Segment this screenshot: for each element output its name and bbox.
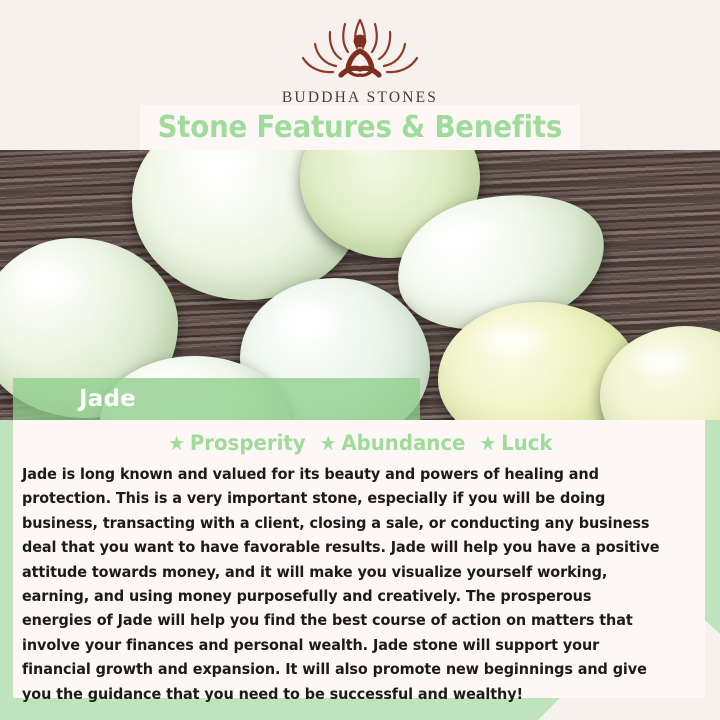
benefits-row: ★Prosperity★Abundance★Luck [34, 431, 684, 455]
stone-name: Jade [79, 386, 136, 412]
description-panel: ★Prosperity★Abundance★Luck Jade is long … [13, 420, 705, 698]
page-title-band: Stone Features & Benefits [140, 105, 580, 150]
page-title: Stone Features & Benefits [158, 110, 563, 145]
stone-name-banner: Jade [13, 378, 420, 420]
star-icon: ★ [320, 431, 337, 455]
benefit-label: Luck [501, 431, 552, 455]
stone-description: Jade is long known and valued for its be… [22, 462, 666, 706]
star-icon: ★ [480, 431, 497, 455]
benefit-label: Abundance [341, 431, 465, 455]
benefit-label: Prosperity [190, 431, 306, 455]
brand-logo: BUDDHA STONES [0, 14, 720, 107]
lotus-meditation-icon [285, 14, 435, 88]
stone-features-infographic: BUDDHA STONES Stone Features & Benefits … [0, 0, 720, 720]
star-icon: ★ [168, 431, 185, 455]
